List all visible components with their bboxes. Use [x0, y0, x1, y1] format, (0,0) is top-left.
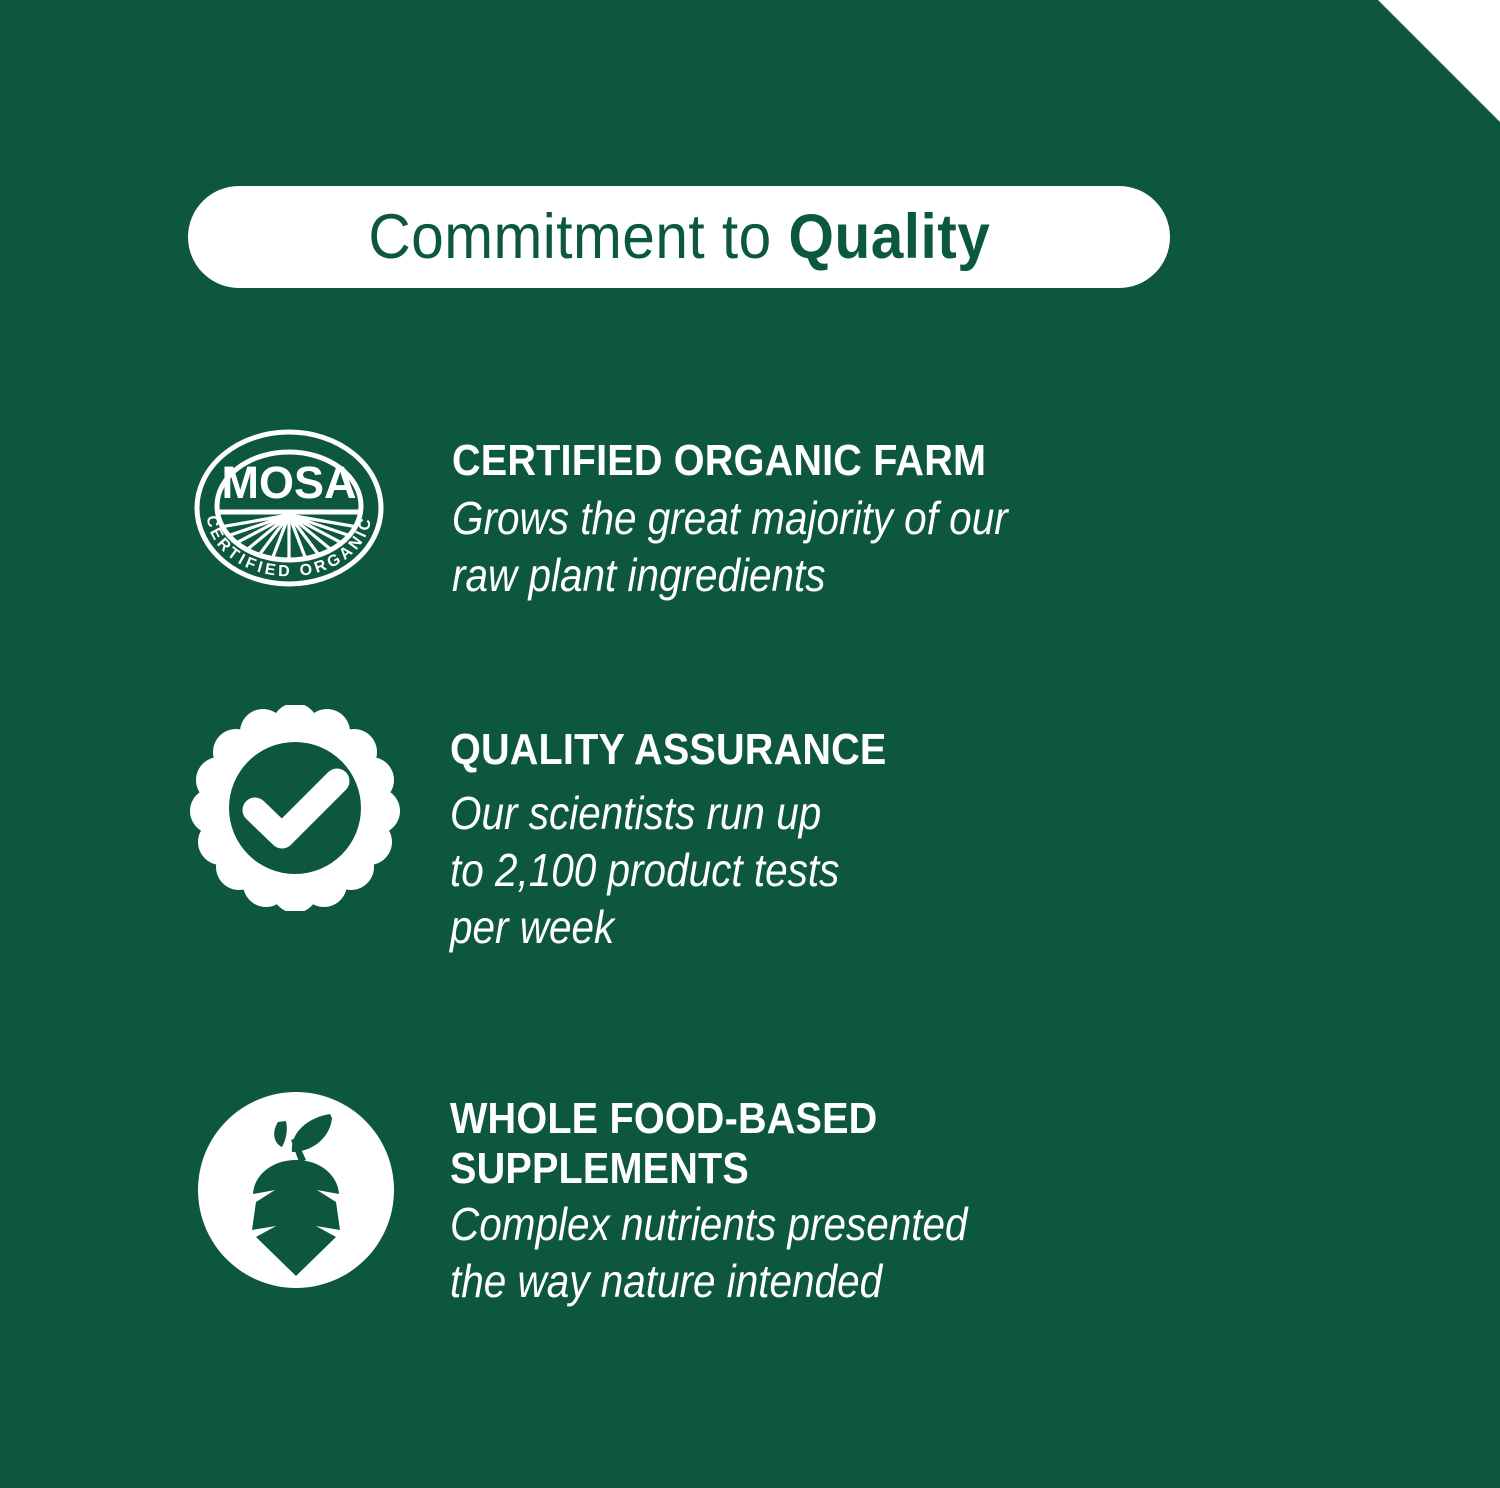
feature-heading: CERTIFIED ORGANIC FARM	[452, 436, 1020, 486]
feature-body-line: the way nature intended	[450, 1253, 968, 1310]
quality-check-badge-icon	[182, 705, 408, 911]
feature-row-quality-assurance: QUALITY ASSURANCE Our scientists run up …	[182, 705, 935, 956]
feature-heading-line: SUPPLEMENTS	[450, 1144, 979, 1194]
feature-heading-line: WHOLE FOOD-BASED	[450, 1094, 979, 1144]
page-title-bold: Quality	[788, 202, 990, 272]
page-title: Commitment to Quality	[368, 206, 990, 269]
feature-body: Grows the great majority of our raw plan…	[452, 490, 1008, 604]
feature-body-line: raw plant ingredients	[452, 547, 1008, 604]
page-title-pill: Commitment to Quality	[188, 186, 1170, 288]
feature-body-line: Grows the great majority of our	[452, 490, 1008, 547]
feature-body-line: Complex nutrients presented	[450, 1196, 968, 1253]
mosa-certified-organic-seal-icon: MOSA CERTIFIED ORGANIC	[182, 420, 396, 600]
feature-body-line: to 2,100 product tests	[450, 842, 877, 899]
feature-row-whole-food-based-supplements: WHOLE FOOD-BASED SUPPLEMENTS Complex nut…	[196, 1090, 1038, 1310]
beet-whole-food-icon	[196, 1090, 396, 1290]
feature-text-certified-organic-farm: CERTIFIED ORGANIC FARM Grows the great m…	[452, 420, 1083, 604]
commitment-to-quality-panel: Commitment to Quality	[0, 0, 1500, 1488]
feature-heading: QUALITY ASSURANCE	[450, 725, 887, 775]
feature-heading: WHOLE FOOD-BASED SUPPLEMENTS	[450, 1094, 979, 1194]
feature-text-quality-assurance: QUALITY ASSURANCE Our scientists run up …	[450, 705, 935, 956]
feature-body-line: Our scientists run up	[450, 785, 877, 842]
feature-body-line: per week	[450, 899, 877, 956]
feature-text-whole-food-based-supplements: WHOLE FOOD-BASED SUPPLEMENTS Complex nut…	[450, 1090, 1038, 1310]
feature-body: Our scientists run up to 2,100 product t…	[450, 785, 877, 956]
feature-body: Complex nutrients presented the way natu…	[450, 1196, 968, 1310]
feature-row-certified-organic-farm: MOSA CERTIFIED ORGANIC CERTIFIED ORGANIC…	[182, 420, 1083, 604]
page-title-light: Commitment to	[368, 202, 788, 272]
mosa-brand-label: MOSA	[222, 457, 357, 508]
